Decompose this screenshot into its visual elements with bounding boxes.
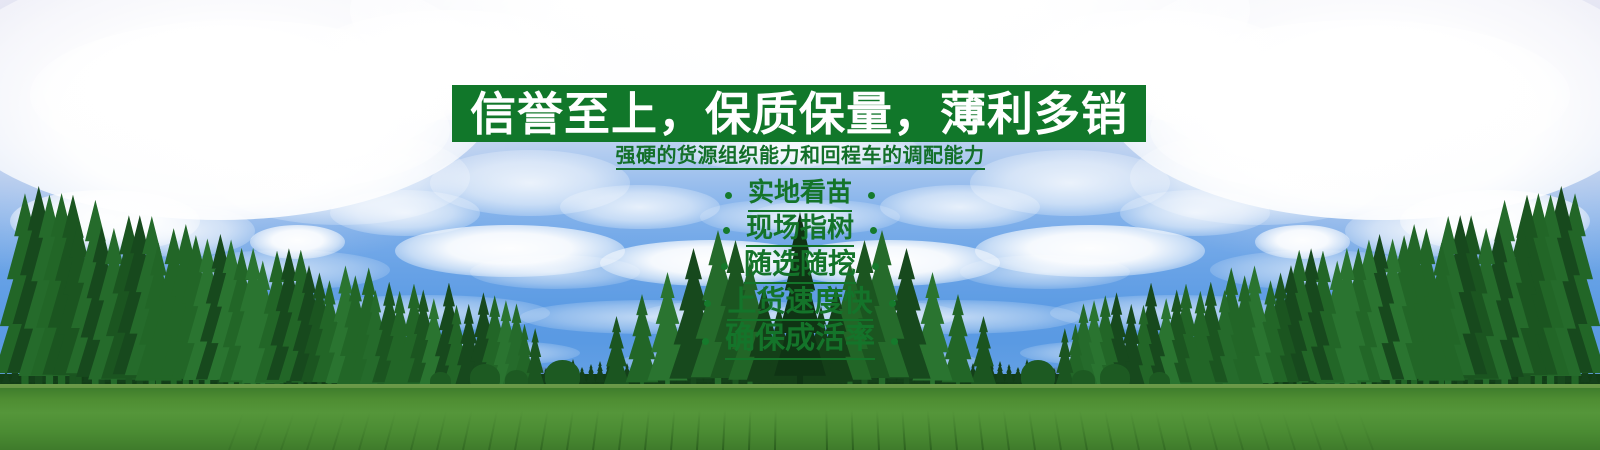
crop-row: [436, 411, 447, 450]
crop-row: [1180, 411, 1192, 450]
bullet-dot-icon: [704, 300, 711, 307]
crop-row: [566, 410, 574, 450]
feature-row: 现场指树: [723, 215, 877, 248]
feature-label: 上货速度快: [727, 287, 872, 322]
crop-row: [1256, 411, 1270, 450]
subtitle-text: 强硬的货源组织能力和回程车的调配能力: [616, 145, 985, 170]
feature-row: 随选随挖: [721, 250, 879, 284]
feature-row: 上货速度快: [704, 287, 895, 322]
crop-row: [1332, 412, 1348, 450]
crop-row: [280, 412, 295, 450]
crop-row: [696, 410, 701, 450]
feature-label: 确保成活率: [725, 324, 875, 360]
subtitle-row: 强硬的货源组织能力和回程车的调配能力: [0, 145, 1600, 170]
bullet-dot-icon: [889, 300, 896, 307]
crop-row: [540, 410, 549, 450]
feature-row: 实地看苗: [725, 180, 875, 212]
crop-row: [1231, 411, 1244, 450]
feature-label: 随选随挖: [744, 250, 856, 284]
crop-row: [722, 410, 726, 450]
crop-row: [977, 410, 984, 450]
crop-row: [228, 412, 244, 450]
crop-row: [1104, 411, 1114, 450]
bullet-dot-icon: [725, 192, 732, 199]
crop-row: [748, 410, 751, 450]
crop-row: [1003, 410, 1010, 450]
crop-row: [952, 410, 958, 450]
bullet-dot-icon: [702, 338, 709, 345]
bullet-dot-icon: [721, 263, 728, 270]
crop-row: [644, 410, 650, 450]
crop-row: [1155, 411, 1166, 450]
crop-row: [1282, 412, 1296, 450]
headline-text: 信誉至上，保质保量，薄利多销: [470, 91, 1128, 137]
crop-row: [358, 411, 371, 450]
feature-list: 实地看苗现场指树随选随挖上货速度快确保成活率: [0, 180, 1600, 363]
crop-row: [1079, 410, 1088, 450]
crop-row: [1206, 411, 1218, 450]
promo-banner: 信誉至上，保质保量，薄利多销 强硬的货源组织能力和回程车的调配能力 实地看苗现场…: [0, 0, 1600, 450]
crop-row: [410, 411, 422, 450]
feature-label: 实地看苗: [748, 180, 852, 212]
crop-row: [825, 410, 828, 450]
bullet-dot-icon: [868, 192, 875, 199]
crop-row: [901, 410, 906, 450]
crop-row: [254, 412, 270, 450]
crop-row: [1129, 411, 1140, 450]
bullet-dot-icon: [891, 338, 898, 345]
headline-bar: 信誉至上，保质保量，薄利多销: [452, 85, 1146, 142]
crop-row: [774, 410, 777, 450]
feature-row: 确保成活率: [702, 324, 898, 360]
crop-row: [1028, 410, 1036, 450]
crop-row: [670, 410, 675, 450]
crop-row: [1053, 410, 1062, 450]
crop-row: [851, 410, 854, 450]
crop-row: [306, 412, 320, 450]
crop-row: [592, 410, 599, 450]
bullet-dot-icon: [872, 263, 879, 270]
crop-row: [927, 410, 932, 450]
crop-row: [1358, 412, 1374, 450]
crop-row: [876, 410, 880, 450]
crop-rows: [0, 410, 1600, 450]
crop-row: [462, 411, 473, 450]
field-foreground: [0, 388, 1600, 450]
crop-row: [488, 411, 498, 450]
feature-label: 现场指树: [746, 215, 854, 248]
bullet-dot-icon: [870, 227, 877, 234]
crop-row: [384, 411, 396, 450]
crop-row: [618, 410, 625, 450]
bullet-dot-icon: [723, 227, 730, 234]
crop-row: [1307, 412, 1322, 450]
crop-row: [514, 410, 523, 450]
crop-row: [332, 411, 346, 450]
